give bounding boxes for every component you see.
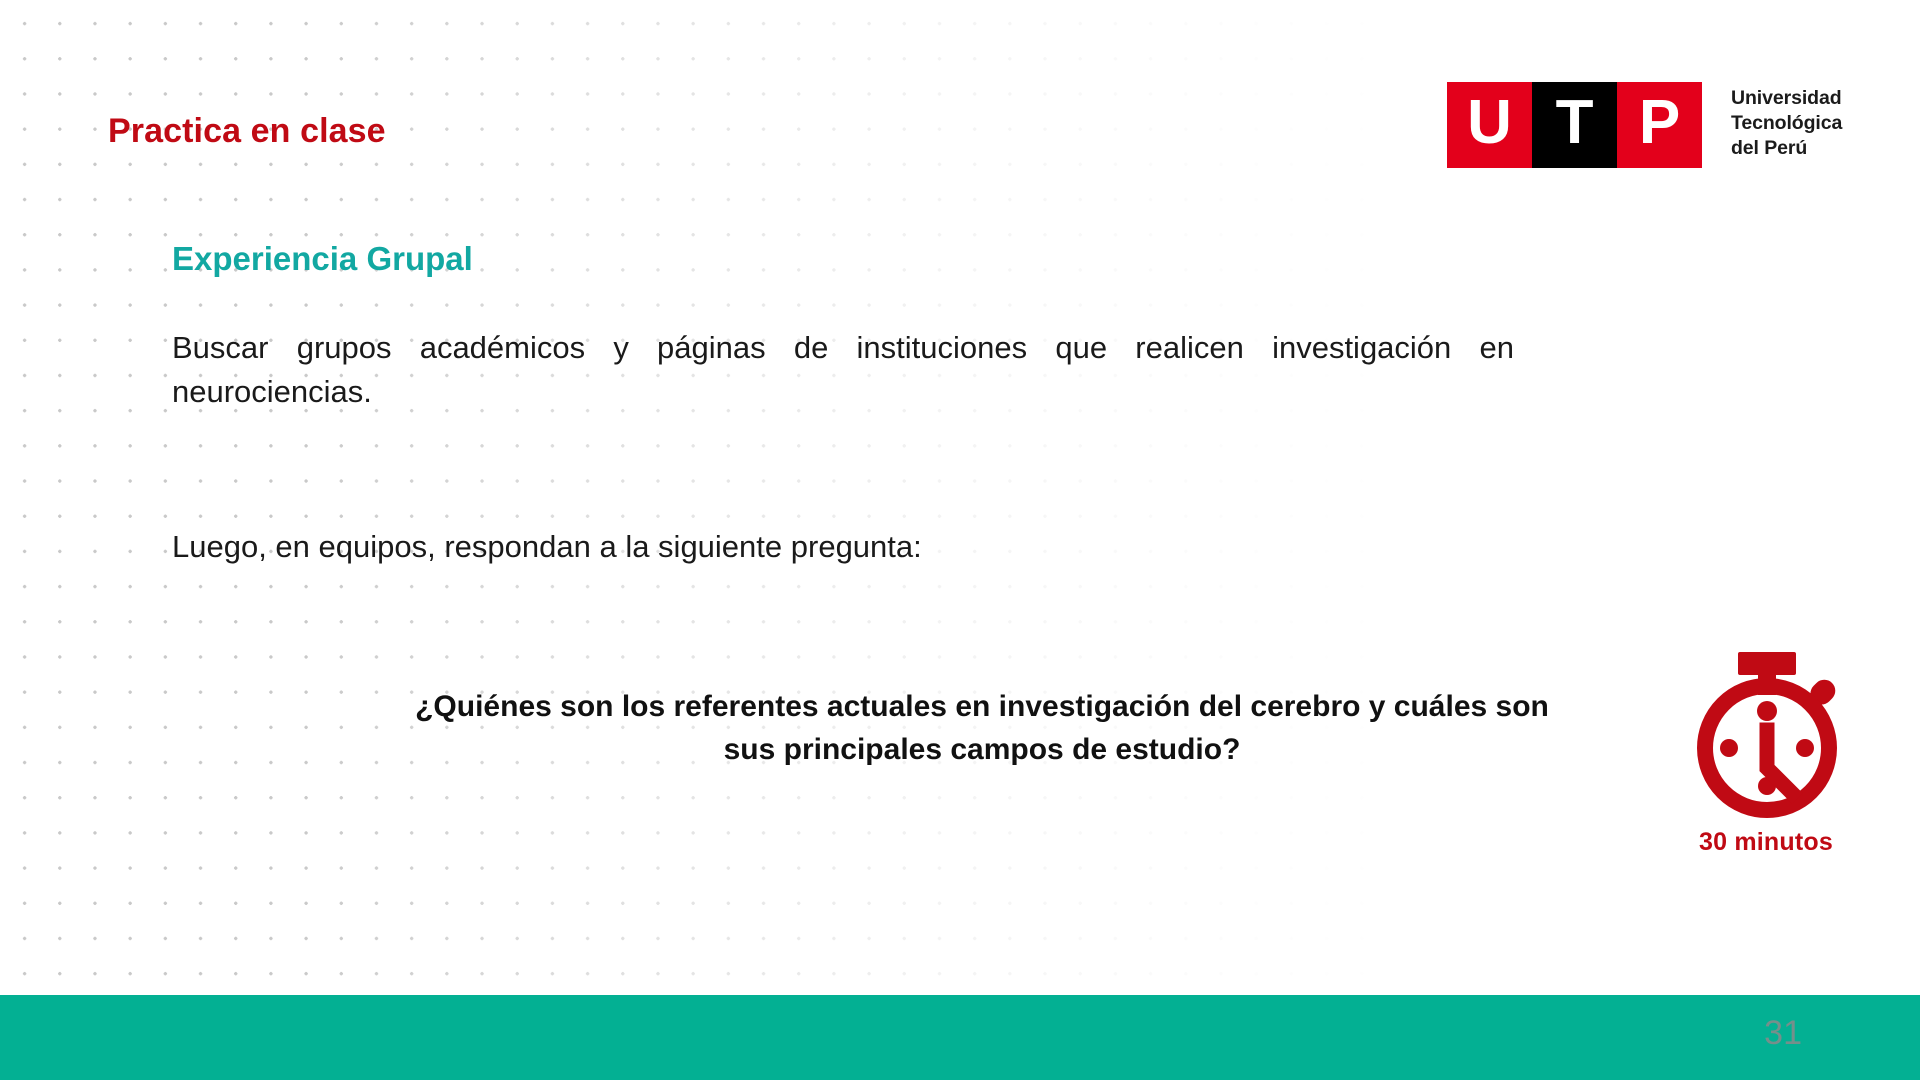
utp-logo-letter-t: T — [1556, 92, 1594, 154]
utp-logo-letter-u: U — [1467, 92, 1512, 154]
utp-wordmark-line-1: Universidad — [1731, 86, 1842, 111]
followup-paragraph: Luego, en equipos, respondan a la siguie… — [172, 525, 1514, 569]
utp-logo: U T P Universidad Tecnológica del Perú — [1447, 82, 1842, 168]
utp-logo-letter-p: P — [1639, 92, 1680, 154]
utp-logo-blocks: U T P — [1447, 82, 1702, 168]
section-heading: Experiencia Grupal — [172, 240, 473, 278]
slide-canvas: Practica en clase U T P Universidad Tecn… — [0, 0, 1920, 1080]
page-number: 31 — [1764, 1014, 1802, 1053]
discussion-question: ¿Quiénes son los referentes actuales en … — [394, 686, 1570, 771]
utp-logo-wordmark: Universidad Tecnológica del Perú — [1731, 86, 1842, 161]
instruction-paragraph: Buscar grupos académicos y páginas de in… — [172, 326, 1514, 414]
timer-widget: 30 minutos — [1650, 648, 1882, 857]
utp-wordmark-line-3: del Perú — [1731, 136, 1842, 161]
footer-bar: 31 — [0, 995, 1920, 1080]
utp-logo-block-t: T — [1532, 82, 1617, 168]
utp-wordmark-line-2: Tecnológica — [1731, 111, 1842, 136]
utp-logo-block-p: P — [1617, 82, 1702, 168]
page-title: Practica en clase — [108, 112, 386, 151]
timer-label: 30 minutos — [1650, 828, 1882, 857]
stopwatch-icon — [1682, 648, 1850, 820]
utp-logo-block-u: U — [1447, 82, 1532, 168]
